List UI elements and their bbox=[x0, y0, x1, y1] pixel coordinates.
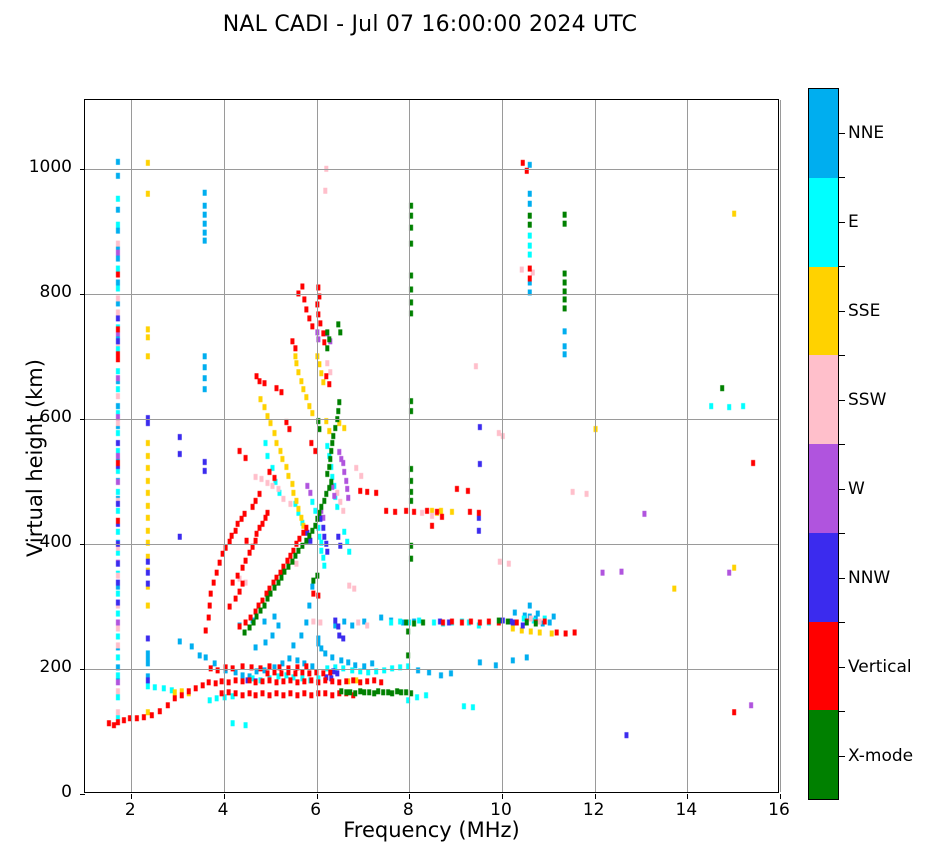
gridline-vertical bbox=[224, 100, 225, 792]
gridline-horizontal bbox=[85, 419, 778, 420]
gridline-vertical bbox=[780, 100, 781, 792]
x-tick-label: 4 bbox=[218, 800, 229, 820]
gridline-horizontal bbox=[85, 294, 778, 295]
y-tick bbox=[80, 794, 85, 795]
colorbar-boundary-tick bbox=[839, 266, 845, 267]
colorbar-label-sse: SSE bbox=[848, 301, 880, 321]
colorbar-segment-sse[interactable] bbox=[809, 267, 838, 356]
x-tick bbox=[131, 794, 132, 799]
x-tick bbox=[409, 794, 410, 799]
x-tick-label: 14 bbox=[676, 800, 698, 820]
colorbar-segment-ssw[interactable] bbox=[809, 355, 838, 444]
colorbar-tick bbox=[839, 222, 845, 223]
y-axis-label: Virtual height (km) bbox=[23, 258, 47, 658]
colorbar-label-x-mode: X-mode bbox=[848, 746, 913, 766]
x-tick-label: 6 bbox=[310, 800, 321, 820]
colorbar-segment-nne[interactable] bbox=[809, 89, 838, 178]
colorbar-boundary-tick bbox=[839, 444, 845, 445]
colorbar-segment-e[interactable] bbox=[809, 178, 838, 267]
colorbar-tick bbox=[839, 133, 845, 134]
colorbar-boundary-tick bbox=[839, 355, 845, 356]
colorbar-label-vertical: Vertical bbox=[848, 657, 912, 677]
y-tick bbox=[80, 419, 85, 420]
x-tick-label: 8 bbox=[403, 800, 414, 820]
colorbar-tick bbox=[839, 578, 845, 579]
colorbar-segment-vertical[interactable] bbox=[809, 622, 838, 711]
x-tick bbox=[317, 794, 318, 799]
gridline-horizontal bbox=[85, 669, 778, 670]
colorbar-label-e: E bbox=[848, 212, 859, 232]
colorbar-label-ssw: SSW bbox=[848, 390, 886, 410]
colorbar-tick bbox=[839, 489, 845, 490]
colorbar-tick bbox=[839, 667, 845, 668]
x-tick-label: 10 bbox=[490, 800, 512, 820]
x-tick bbox=[224, 794, 225, 799]
gridline-horizontal bbox=[85, 169, 778, 170]
y-tick bbox=[80, 294, 85, 295]
colorbar-boundary-tick bbox=[839, 622, 845, 623]
x-axis-label: Frequency (MHz) bbox=[84, 818, 779, 842]
x-tick-label: 12 bbox=[583, 800, 605, 820]
gridline-vertical bbox=[131, 100, 132, 792]
colorbar-label-w: W bbox=[848, 479, 865, 499]
gridline-vertical bbox=[317, 100, 318, 792]
x-tick bbox=[780, 794, 781, 799]
colorbar[interactable] bbox=[808, 88, 839, 800]
colorbar-tick bbox=[839, 756, 845, 757]
colorbar-tick bbox=[839, 311, 845, 312]
colorbar-boundary-tick bbox=[839, 177, 845, 178]
ionogram-figure: NAL CADI - Jul 07 16:00:00 2024 UTC 2468… bbox=[0, 0, 951, 856]
ionogram-scatter-canvas bbox=[85, 100, 778, 792]
y-tick bbox=[80, 669, 85, 670]
colorbar-label-nne: NNE bbox=[848, 123, 884, 143]
gridline-vertical bbox=[409, 100, 410, 792]
colorbar-segment-nnw[interactable] bbox=[809, 533, 838, 622]
page-title: NAL CADI - Jul 07 16:00:00 2024 UTC bbox=[0, 12, 860, 37]
gridline-vertical bbox=[595, 100, 596, 792]
gridline-horizontal bbox=[85, 544, 778, 545]
colorbar-tick bbox=[839, 400, 845, 401]
x-tick bbox=[502, 794, 503, 799]
x-tick bbox=[687, 794, 688, 799]
gridline-vertical bbox=[502, 100, 503, 792]
colorbar-segment-w[interactable] bbox=[809, 444, 838, 533]
plot-area bbox=[84, 99, 779, 793]
colorbar-segment-x-mode[interactable] bbox=[809, 710, 838, 799]
colorbar-label-nnw: NNW bbox=[848, 568, 890, 588]
colorbar-boundary-tick bbox=[839, 711, 845, 712]
colorbar-boundary-tick bbox=[839, 533, 845, 534]
x-tick bbox=[595, 794, 596, 799]
gridline-vertical bbox=[687, 100, 688, 792]
y-tick bbox=[80, 169, 85, 170]
x-tick-label: 2 bbox=[125, 800, 136, 820]
y-tick bbox=[80, 544, 85, 545]
x-tick-label: 16 bbox=[768, 800, 790, 820]
